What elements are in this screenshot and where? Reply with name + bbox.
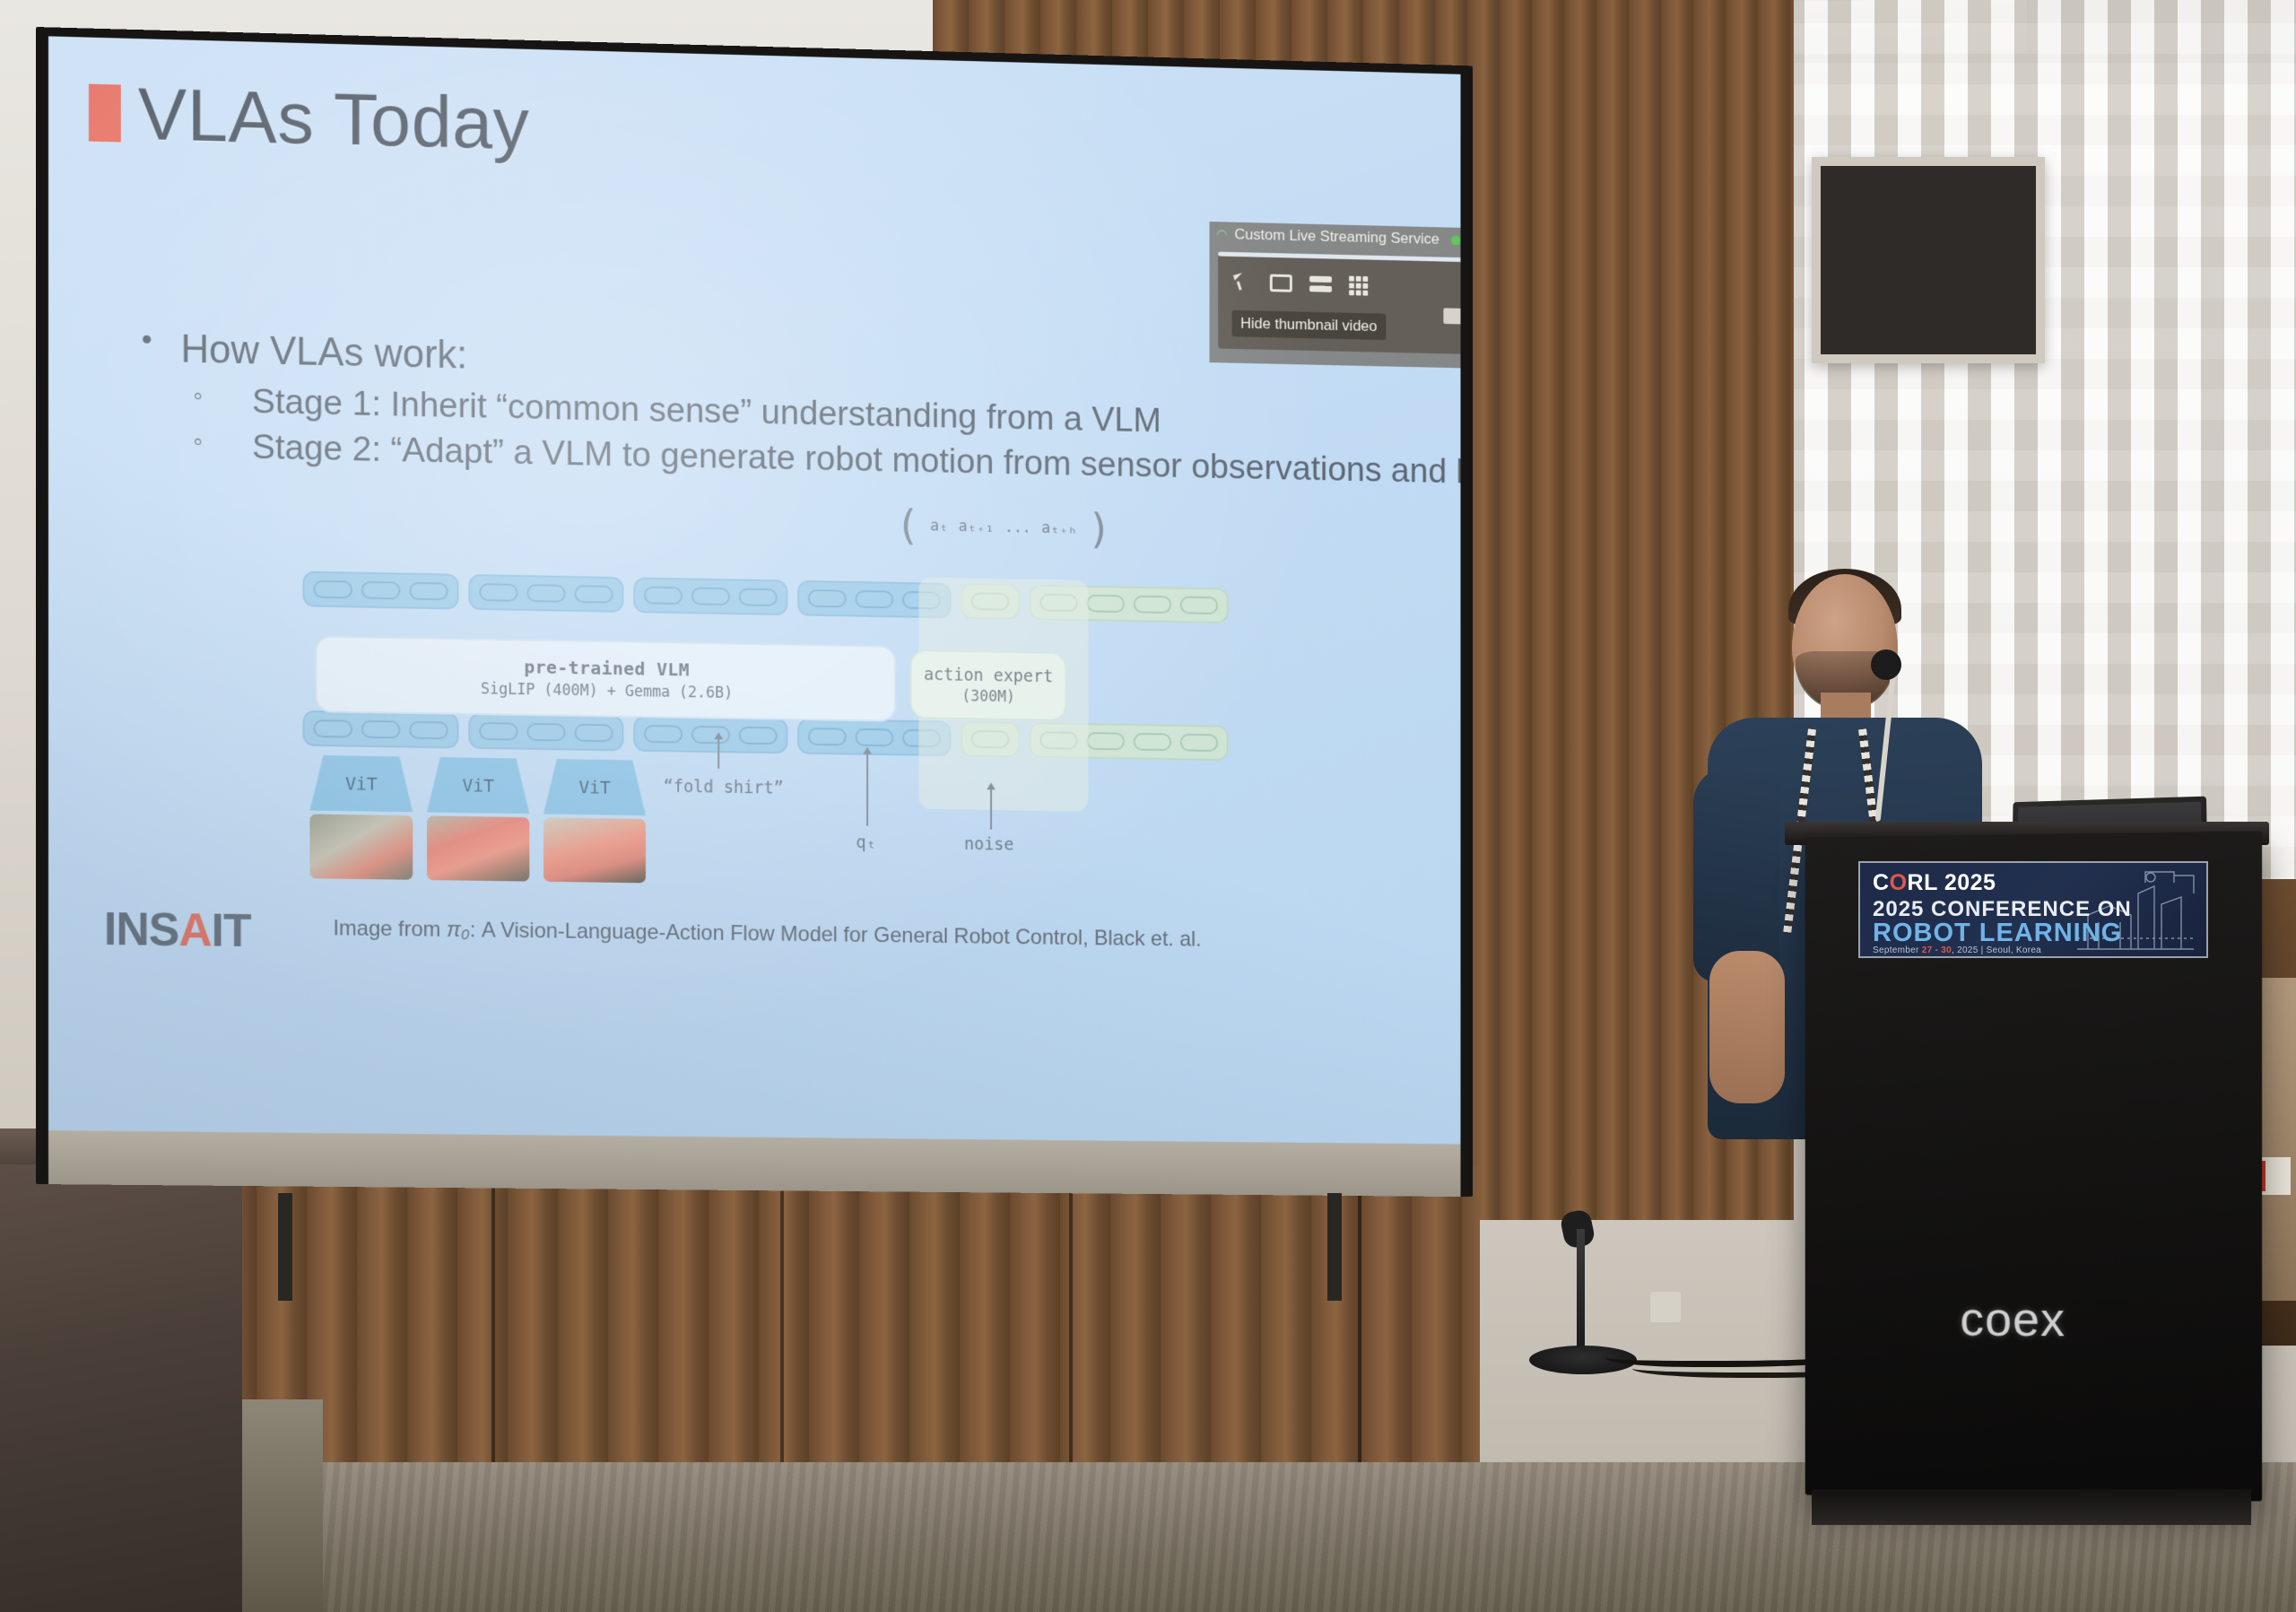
noise-arrow-icon xyxy=(990,789,992,829)
action-token-2: ... xyxy=(1004,518,1031,536)
brace-left-icon: ( xyxy=(895,513,919,538)
banner-line2: ROBOT LEARNING xyxy=(1873,919,2122,948)
pretrained-vlm-box: pre-trained VLM SigLIP (400M) + Gemma (2… xyxy=(315,635,896,721)
expert-title: action expert xyxy=(924,665,1053,686)
screen-surface: VLAs Today How VLAs work: Stage 1: Inher… xyxy=(48,36,1461,1162)
split-layout-icon[interactable] xyxy=(1309,275,1332,293)
speaker-sleeve xyxy=(1693,767,1779,982)
camera-view-thumbnail xyxy=(544,817,646,883)
noise-label: noise xyxy=(964,834,1013,854)
thumbnail-video-icon[interactable] xyxy=(1443,308,1460,324)
corl-rest: RL 2025 xyxy=(1908,870,1996,895)
caption-pi-symbol: π₀ xyxy=(447,918,470,942)
vit-encoder-3: ViT xyxy=(544,759,646,815)
brace-right-icon: ) xyxy=(1088,517,1112,542)
token-group xyxy=(633,577,787,615)
projection-screen: VLAs Today How VLAs work: Stage 1: Inher… xyxy=(36,27,1473,1197)
grid-layout-icon[interactable] xyxy=(1349,276,1371,294)
corl-o: O xyxy=(1890,870,1908,895)
token-group xyxy=(468,574,623,613)
headset-mic-capsule xyxy=(1871,649,1901,680)
date-end: 30 xyxy=(1941,945,1952,955)
action-token-1: aₜ₊₁ xyxy=(959,518,995,536)
stream-header: ◠ Custom Live Streaming Service xyxy=(1216,225,1460,249)
insait-part3: IT xyxy=(212,905,251,957)
token-group xyxy=(303,571,459,610)
action-token-outputs: ( aₜ aₜ₊₁ ... aₜ₊ₕ ) xyxy=(910,513,1097,541)
action-token-3: aₜ₊ₕ xyxy=(1041,519,1077,537)
expert-subtitle: (300M) xyxy=(961,687,1015,706)
title-accent-bar xyxy=(89,84,121,143)
live-streaming-overlay[interactable]: ◠ Custom Live Streaming Service xyxy=(1210,222,1461,369)
date-prefix: September xyxy=(1873,945,1922,955)
podium-base xyxy=(1812,1489,2251,1525)
date-suffix: , 2025 | Seoul, Korea xyxy=(1952,945,2041,955)
vlm-title: pre-trained VLM xyxy=(524,656,690,680)
banner-date: September 27 - 30, 2025 | Seoul, Korea xyxy=(1873,945,2041,955)
live-status-dot xyxy=(1451,235,1460,245)
hide-thumbnail-tooltip: Hide thumbnail video xyxy=(1232,310,1387,340)
cast-icon: ◠ xyxy=(1216,226,1228,242)
screen-stand-leg xyxy=(1327,1193,1342,1301)
token-group xyxy=(303,710,459,749)
wall-picture-frame xyxy=(1812,157,2045,363)
date-start: 27 xyxy=(1922,945,1933,955)
corl-c: C xyxy=(1873,870,1890,895)
token-group xyxy=(633,716,787,754)
insait-logo: INSAIT xyxy=(104,902,251,958)
stream-toolbar[interactable]: Hide thumbnail video xyxy=(1218,252,1460,354)
state-label: qₜ xyxy=(856,832,875,852)
vit-encoder-2: ViT xyxy=(427,757,529,814)
presentation-slide: VLAs Today How VLAs work: Stage 1: Inher… xyxy=(48,36,1461,1162)
draped-table xyxy=(0,1130,242,1612)
state-arrow-icon xyxy=(866,754,868,826)
camera-view-thumbnail xyxy=(427,815,529,881)
screen-stand-leg xyxy=(278,1193,292,1301)
camera-view-thumbnail xyxy=(309,815,413,880)
vlm-subtitle: SigLIP (400M) + Gemma (2.6B) xyxy=(481,680,733,702)
prompt-label: “fold shirt” xyxy=(664,777,784,798)
toolbar-icon-group xyxy=(1231,273,1371,293)
insait-part1: INS xyxy=(104,903,178,956)
token-row-top xyxy=(303,571,1229,623)
caption-prefix: Image from xyxy=(333,916,447,941)
page-title: VLAs Today xyxy=(138,73,530,167)
speaker-left-arm xyxy=(1709,951,1785,1103)
caption-rest: : A Vision-Language-Action Flow Model fo… xyxy=(470,918,1202,951)
conference-room-photo: VLAs Today How VLAs work: Stage 1: Inher… xyxy=(0,0,2296,1612)
vit-encoder-1: ViT xyxy=(309,755,413,812)
toolbar-handle[interactable] xyxy=(1218,252,1460,263)
insait-part2: A xyxy=(178,904,211,956)
wall-outlet xyxy=(1650,1292,1681,1322)
action-expert-box: action expert (300M) xyxy=(910,649,1067,721)
coex-logo: coex xyxy=(1960,1292,2066,1348)
action-token-0: aₜ xyxy=(930,517,948,535)
figure-caption: Image from π₀: A Vision-Language-Action … xyxy=(303,916,1231,953)
corl-wordmark: CORL 2025 xyxy=(1873,870,1996,896)
wood-wall-lower xyxy=(206,1166,1480,1471)
cursor-icon[interactable] xyxy=(1231,273,1253,291)
token-group xyxy=(468,713,623,751)
date-separator: - xyxy=(1932,945,1941,955)
floor-microphone-pole xyxy=(1577,1229,1585,1355)
corl-banner: CORL 2025 2025 CONFERENCE ON ROBOT LEARN… xyxy=(1858,861,2208,958)
rectangle-icon[interactable] xyxy=(1270,274,1292,292)
prompt-arrow-icon xyxy=(717,738,719,769)
stream-service-label: Custom Live Streaming Service xyxy=(1235,226,1439,248)
architecture-figure: ( aₜ aₜ₊₁ ... aₜ₊ₕ ) xyxy=(303,557,1231,945)
